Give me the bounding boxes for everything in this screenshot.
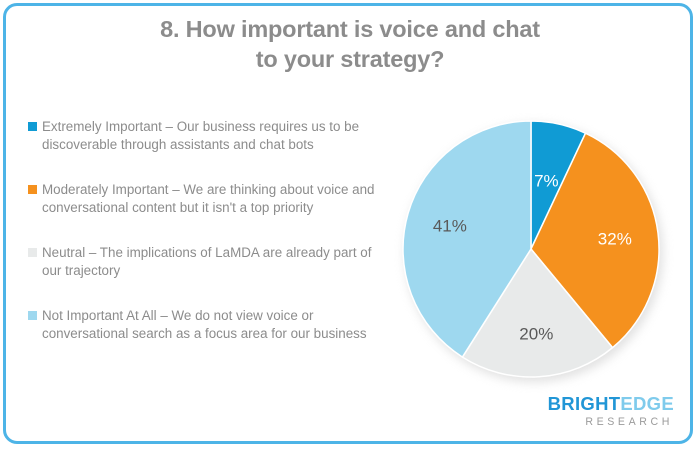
legend-swatch-extremely-important <box>28 122 37 131</box>
legend-swatch-neutral <box>28 248 37 257</box>
legend-label-not-important-at-all: Not Important At All – We do not view vo… <box>42 307 380 342</box>
pie-data-label: 7% <box>534 171 559 190</box>
pie-data-label: 32% <box>598 229 632 248</box>
legend-label-moderately-important: Moderately Important – We are thinking a… <box>42 181 380 216</box>
legend-item-moderately-important: Moderately Important – We are thinking a… <box>28 181 380 216</box>
legend-label-extremely-important: Extremely Important – Our business requi… <box>42 118 380 153</box>
page-title-line-2: to your strategy? <box>60 44 640 74</box>
page-title: 8. How important is voice and chat to yo… <box>60 14 640 74</box>
logo-wordmark: BRIGHTEDGE <box>548 394 674 414</box>
legend-label-neutral: Neutral – The implications of LaMDA are … <box>42 244 380 279</box>
chart-legend: Extremely Important – Our business requi… <box>28 118 380 342</box>
legend-swatch-moderately-important <box>28 185 37 194</box>
page-title-line-1: 8. How important is voice and chat <box>160 16 540 42</box>
legend-item-extremely-important: Extremely Important – Our business requi… <box>28 118 380 153</box>
legend-item-not-important-at-all: Not Important At All – We do not view vo… <box>28 307 380 342</box>
pie-data-label: 20% <box>519 324 553 343</box>
logo-bright-text: BRIGHT <box>548 393 621 414</box>
legend-item-neutral: Neutral – The implications of LaMDA are … <box>28 244 380 279</box>
pie-data-label: 41% <box>433 216 467 235</box>
slide-canvas: 8. How important is voice and chat to yo… <box>0 0 700 451</box>
pie-chart: 7%32%20%41% <box>400 118 662 380</box>
pie-chart-svg: 7%32%20%41% <box>400 118 662 380</box>
legend-swatch-not-important-at-all <box>28 311 37 320</box>
logo-edge-text: EDGE <box>620 393 674 414</box>
logo-subtitle: RESEARCH <box>548 415 673 429</box>
brightedge-research-logo: BRIGHTEDGE RESEARCH <box>548 394 674 429</box>
